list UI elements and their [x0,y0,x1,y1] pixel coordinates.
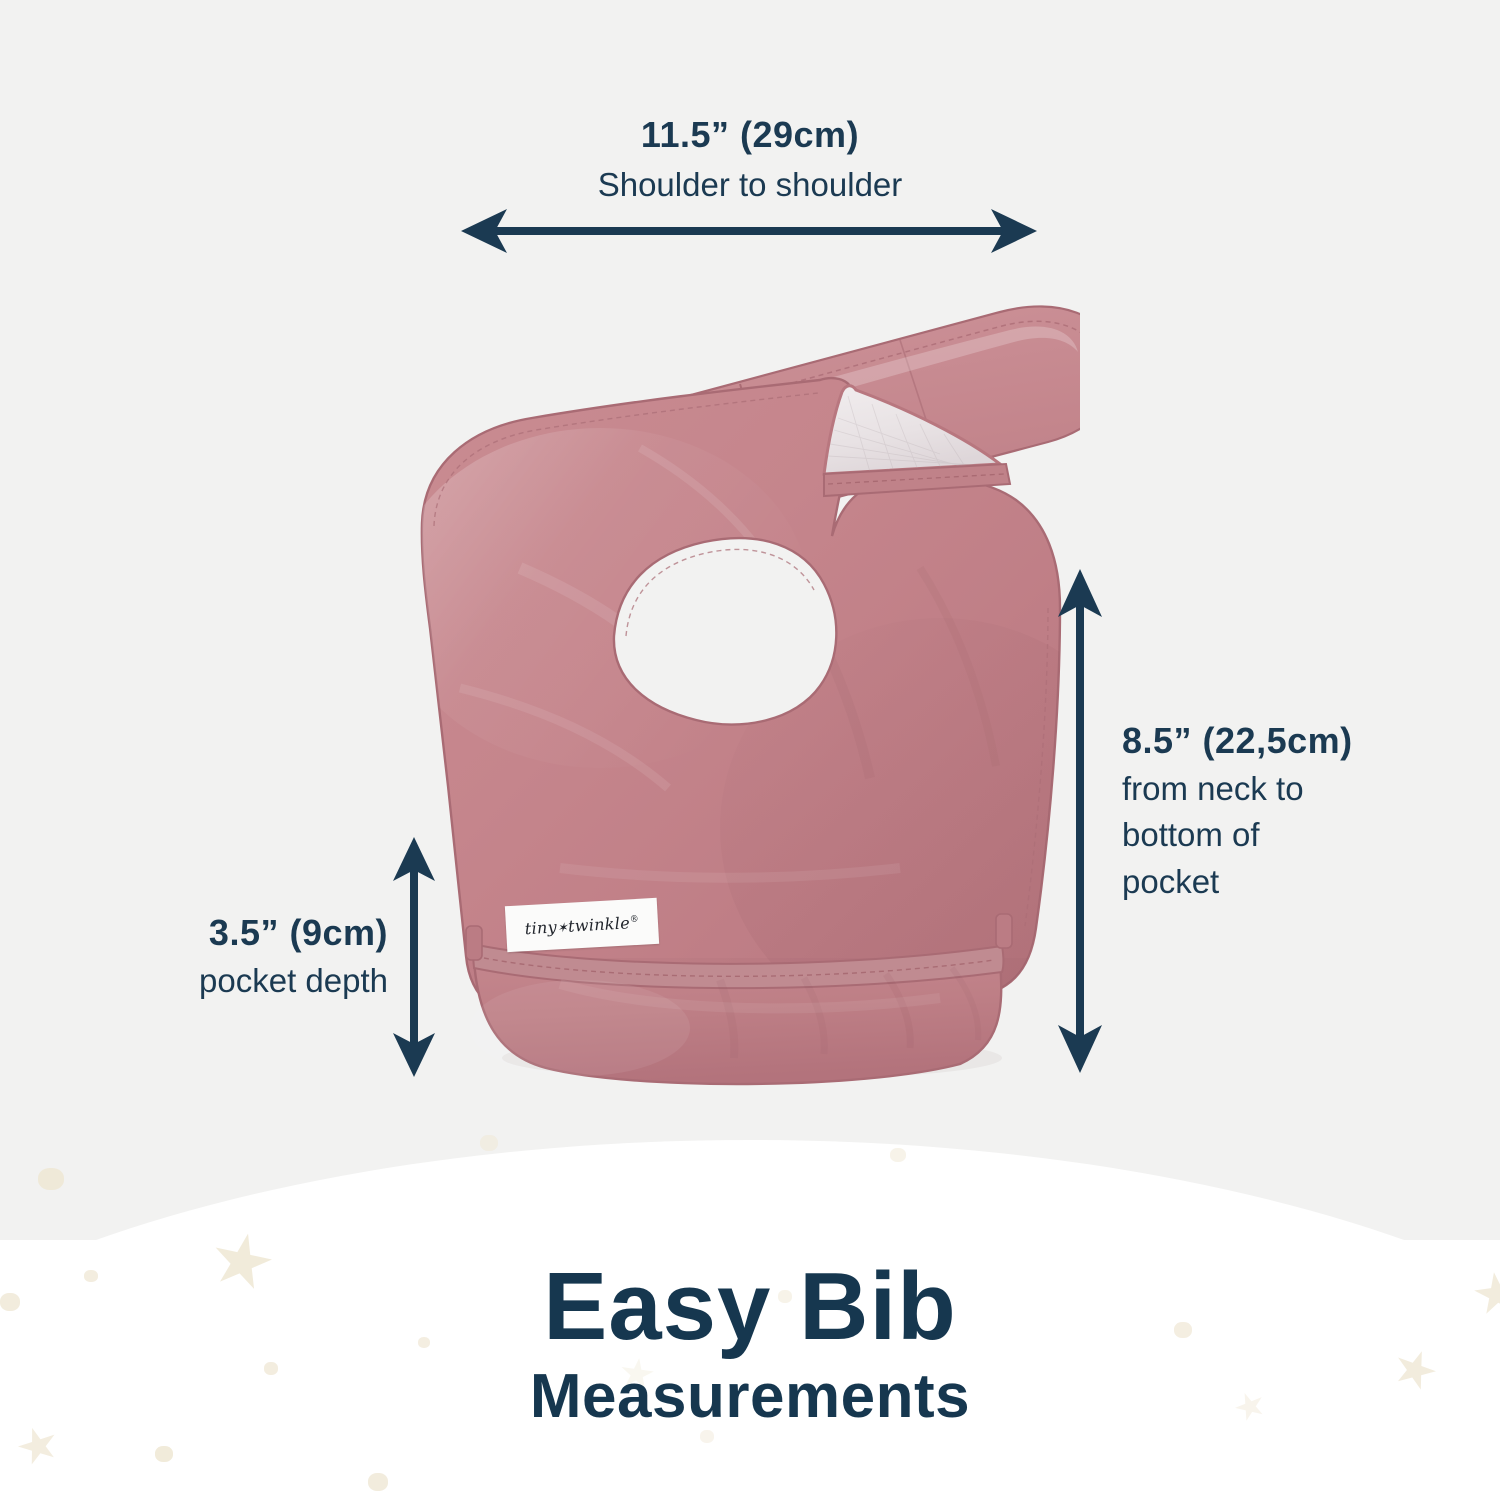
neck-to-pocket-label-line1: from neck to [1122,768,1422,810]
brand-star-icon: ✶ [557,920,569,936]
page-title: Easy Bib [0,1258,1500,1356]
neck-to-pocket-label-line3: pocket [1122,861,1422,903]
page-subtitle: Measurements [0,1364,1500,1429]
product-image-easy-bib [400,268,1080,1088]
measurement-neck-to-pocket: 8.5” (22,5cm) from neck to bottom of poc… [1122,718,1422,903]
neck-to-pocket-dimension-arrow [1050,565,1110,1077]
shoulder-measurement-label: Shoulder to shoulder [0,164,1500,206]
shoulder-dimension-arrow [455,205,1043,265]
measurement-pocket-depth: 3.5” (9cm) pocket depth [0,910,388,1002]
brand-care-label: tiny✶twinkle® [505,898,659,952]
pocket-depth-value: 3.5” (9cm) [0,910,388,956]
neck-to-pocket-label-line2: bottom of [1122,814,1422,856]
title-block: Easy Bib Measurements [0,1258,1500,1429]
measurement-shoulder-to-shoulder: 11.5” (29cm) Shoulder to shoulder [0,112,1500,206]
brand-label-text: tiny✶twinkle® [524,912,639,937]
pocket-depth-dimension-arrow [384,833,444,1081]
bib-pocket [470,944,1004,1084]
shoulder-measurement-value: 11.5” (29cm) [0,112,1500,158]
neck-to-pocket-value: 8.5” (22,5cm) [1122,718,1422,764]
pocket-depth-label: pocket depth [0,960,388,1002]
infographic-canvas: tiny✶twinkle® 11.5” (29cm) Shoulder to s… [0,0,1500,1500]
